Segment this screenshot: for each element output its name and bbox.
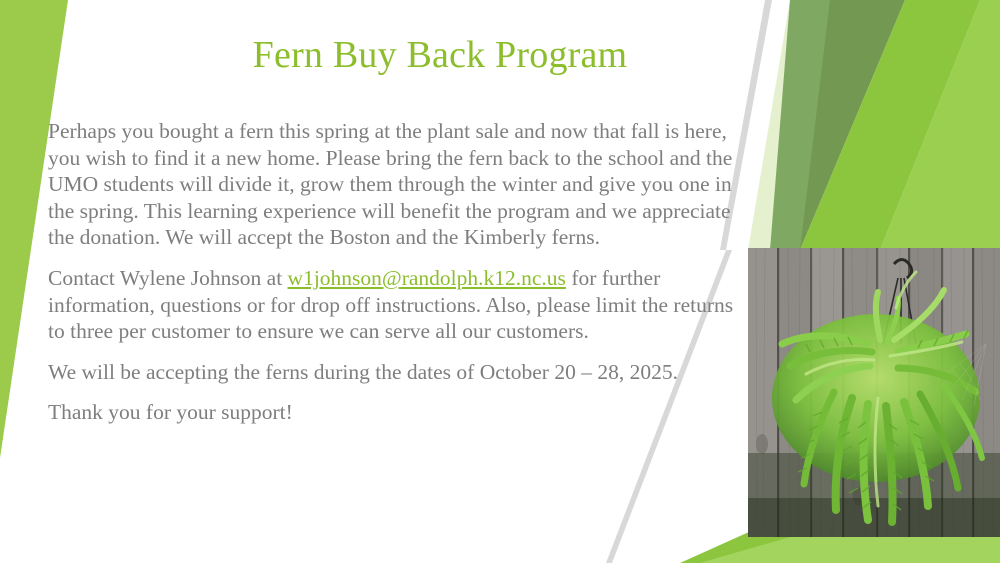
page-title: Fern Buy Back Program <box>120 34 760 77</box>
slide-body-text: Perhaps you bought a fern this spring at… <box>48 118 738 440</box>
paragraph-contact: Contact Wylene Johnson at w1johnson@rand… <box>48 265 738 345</box>
fern-photo <box>748 248 1000 537</box>
bottom-green-band-light <box>700 537 1000 563</box>
email-link[interactable]: w1johnson@randolph.k12.nc.us <box>288 266 566 290</box>
presentation-slide: Fern Buy Back Program Perhaps you bought… <box>0 0 1000 563</box>
paragraph-thanks: Thank you for your support! <box>48 399 738 426</box>
paragraph-intro: Perhaps you bought a fern this spring at… <box>48 118 738 251</box>
olive-band-dark <box>770 0 905 250</box>
green-band-light <box>880 0 1000 250</box>
contact-lead-in: Contact Wylene Johnson at <box>48 266 288 290</box>
green-band-bright <box>800 0 980 250</box>
paragraph-dates: We will be accepting the ferns during th… <box>48 359 738 386</box>
fern-photo-artwork <box>748 248 1000 537</box>
olive-band-mid <box>770 0 830 250</box>
